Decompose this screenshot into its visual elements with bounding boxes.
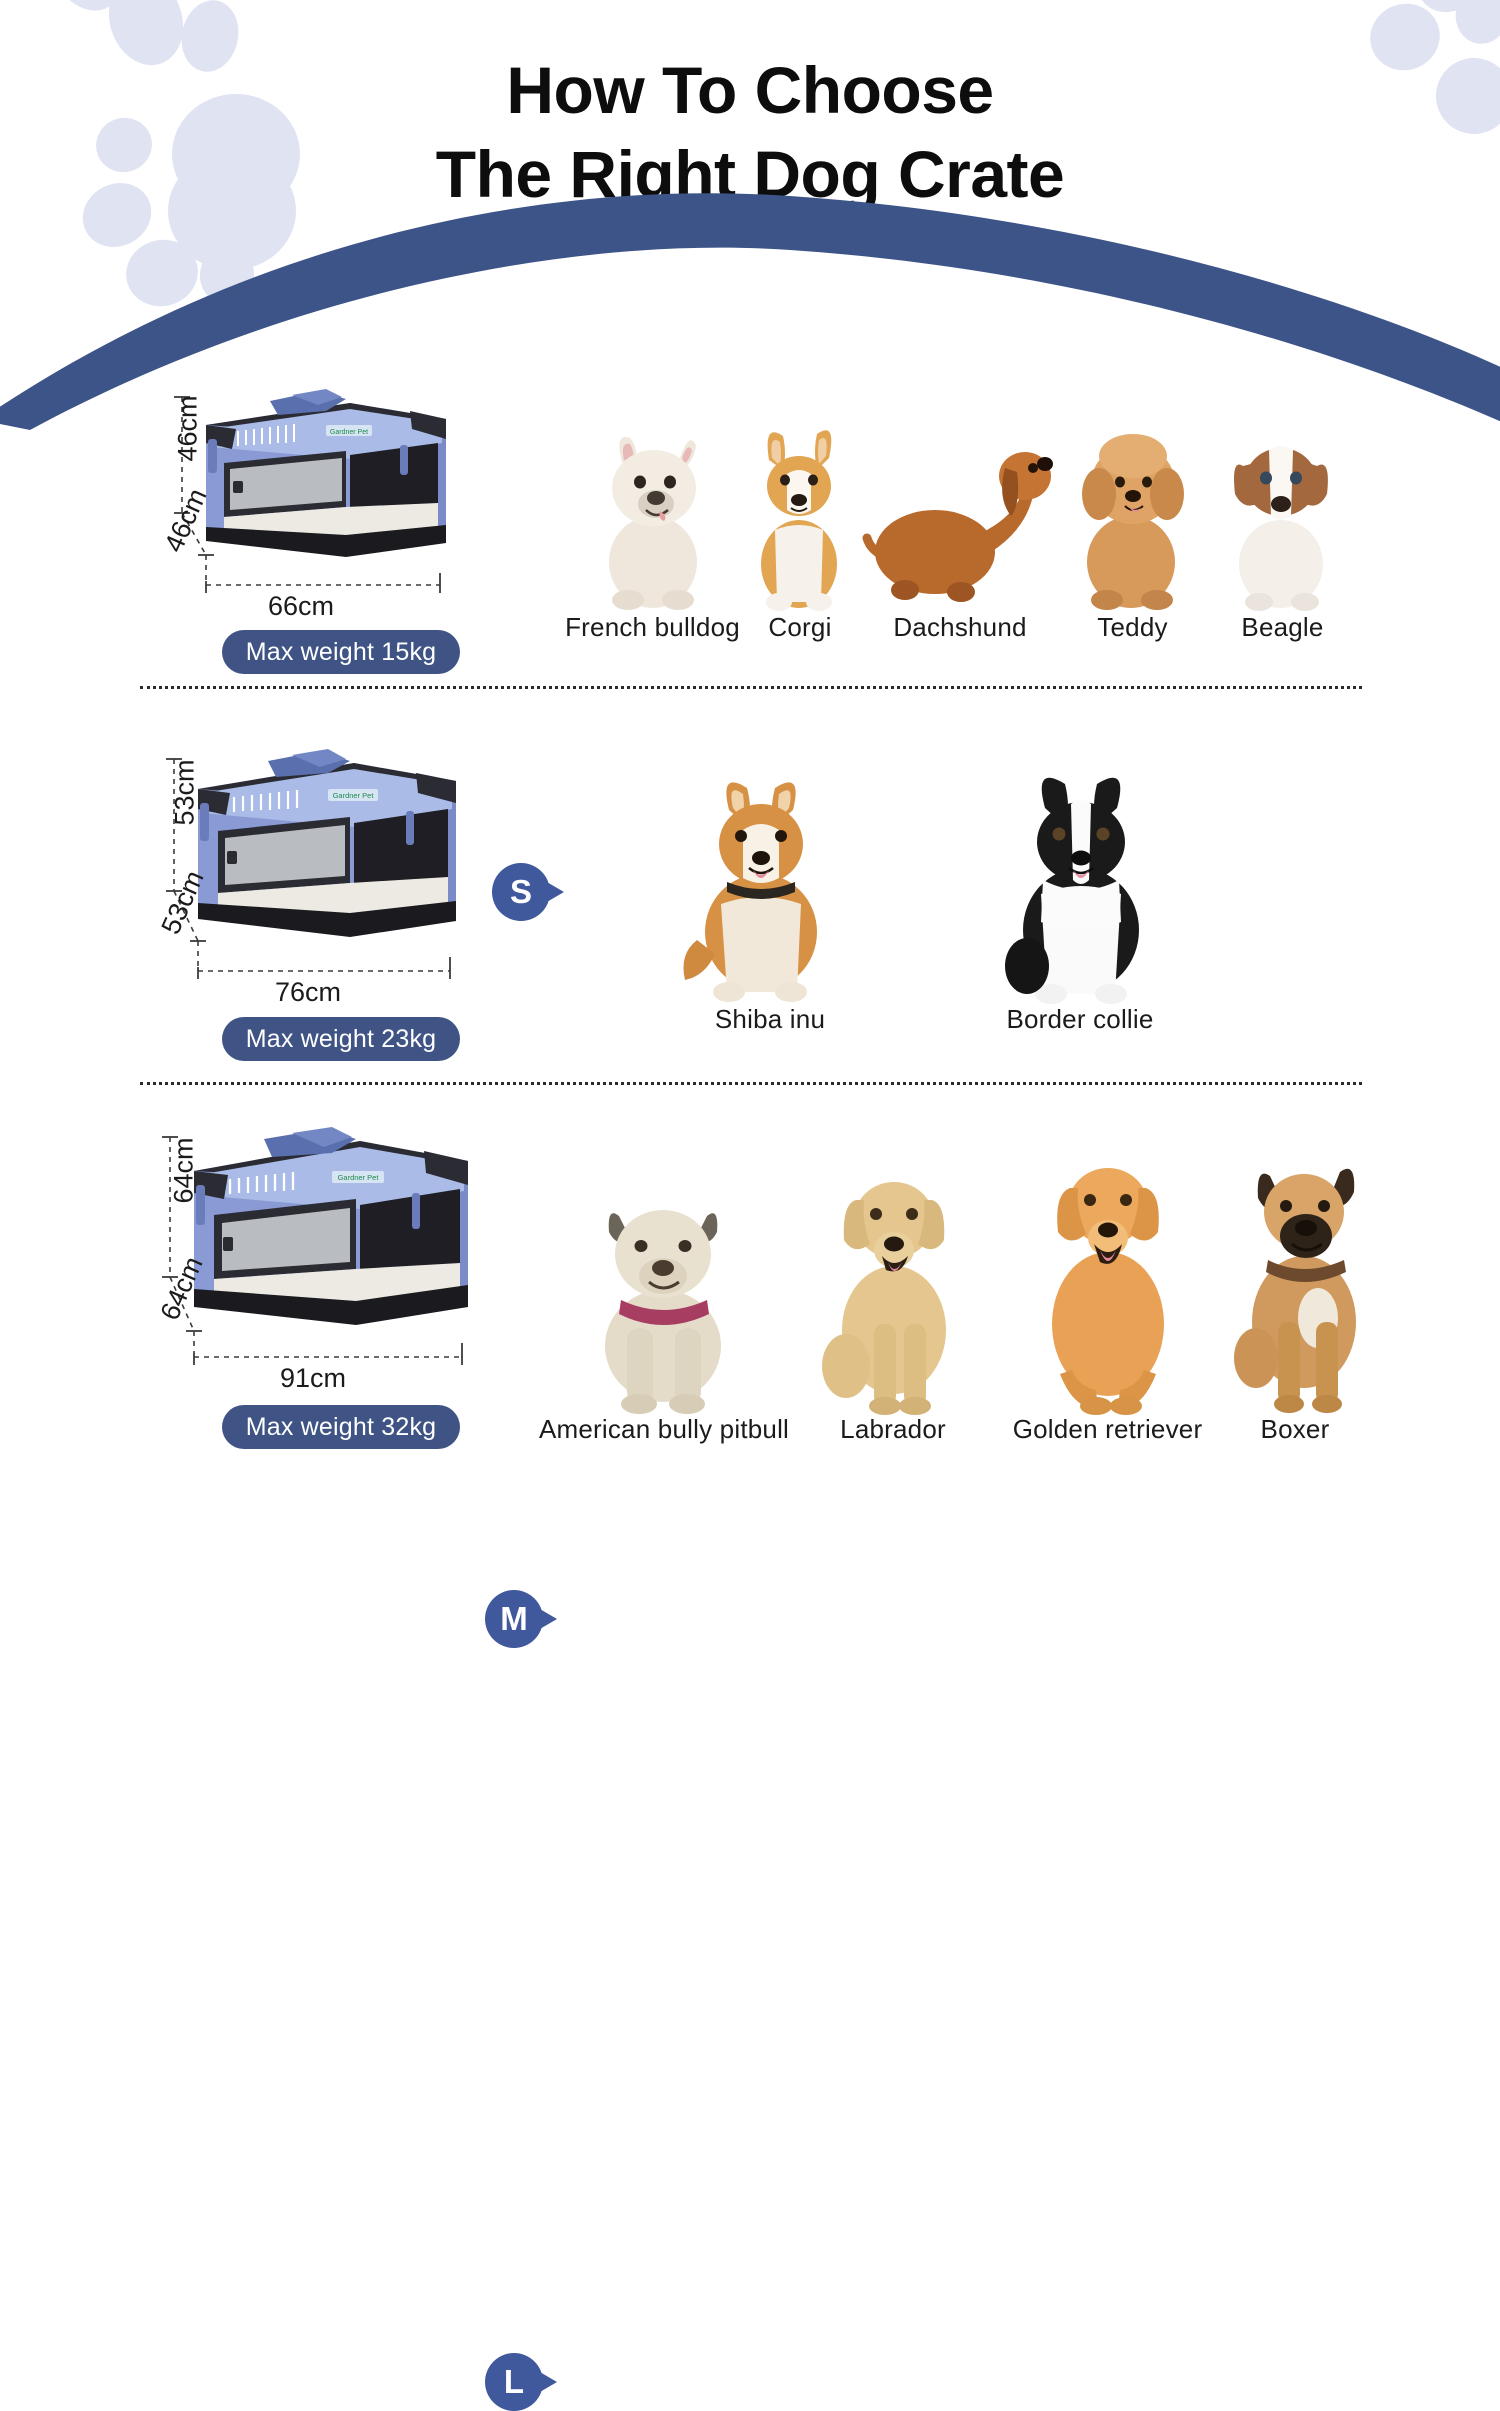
- size-row-s: Gardner Pet: [0, 385, 1500, 685]
- crate-width-label-s: 66cm: [268, 591, 334, 622]
- svg-text:Gardner Pet: Gardner Pet: [338, 1173, 380, 1182]
- breed-name: American bully pitbull: [530, 1414, 798, 1445]
- boxer-image: [1220, 1132, 1390, 1414]
- breed-name: Corgi: [730, 612, 870, 643]
- golden-retriever-image: [1018, 1124, 1198, 1414]
- max-weight-pill-m: Max weight 23kg: [222, 1017, 460, 1061]
- size-badge-l: L: [485, 2353, 543, 2411]
- header: How To Choose The Right Dog Crate: [0, 0, 1500, 390]
- svg-text:Gardner Pet: Gardner Pet: [333, 791, 375, 800]
- breed-list-m: Shiba inu Border collie: [640, 745, 1320, 1075]
- size-row-m: Gardner Pet 53cm 53cm 76cm: [0, 745, 1500, 1075]
- breed-name: Boxer: [1220, 1414, 1370, 1445]
- crate-block-l: Gardner Pet 64cm 64cm 91cm: [150, 1125, 480, 1463]
- dachshund-image: [865, 412, 1055, 612]
- size-badge-letter-m: M: [485, 1590, 543, 1648]
- breed-name: Labrador: [798, 1414, 988, 1445]
- shiba-inu-image: [675, 754, 865, 1004]
- breed-item-shiba-inu: Shiba inu: [640, 754, 900, 1035]
- crate-width-label-m: 76cm: [275, 977, 341, 1008]
- breed-item-labrador: Labrador: [798, 1134, 988, 1445]
- breed-name: Dachshund: [860, 612, 1060, 643]
- crate-block-s: Gardner Pet: [150, 385, 480, 685]
- teddy-image: [1063, 412, 1203, 612]
- breed-name: Beagle: [1205, 612, 1360, 643]
- size-badge-m: M: [485, 1590, 543, 1648]
- crate-width-label-l: 91cm: [280, 1363, 346, 1394]
- breed-item-beagle: Beagle: [1205, 412, 1360, 643]
- page-title-line-1: How To Choose: [506, 53, 993, 127]
- corgi-image: [735, 412, 865, 612]
- size-row-l: Gardner Pet 64cm 64cm 91cm: [0, 1125, 1500, 1463]
- french-bulldog-image: [578, 412, 728, 612]
- section-divider-1: [140, 686, 1362, 689]
- breed-item-dachshund: Dachshund: [860, 412, 1060, 643]
- breed-item-boxer: Boxer: [1220, 1132, 1370, 1445]
- breed-item-corgi: Corgi: [730, 412, 870, 643]
- breed-name: Border collie: [940, 1004, 1220, 1035]
- breed-item-american-bully-pitbull: American bully pitbull: [530, 1168, 798, 1445]
- breed-name: Golden retriever: [985, 1414, 1230, 1445]
- breed-list-s: French bulldog Corgi: [560, 385, 1360, 685]
- size-badge-letter-l: L: [485, 2353, 543, 2411]
- breed-name: Teddy: [1055, 612, 1210, 643]
- breed-item-border-collie: Border collie: [940, 754, 1220, 1035]
- breed-name: Shiba inu: [640, 1004, 900, 1035]
- svg-text:Gardner Pet: Gardner Pet: [330, 429, 368, 436]
- breed-item-teddy: Teddy: [1055, 412, 1210, 643]
- crate-block-m: Gardner Pet 53cm 53cm 76cm: [150, 745, 480, 1075]
- breed-item-golden-retriever: Golden retriever: [985, 1124, 1230, 1445]
- max-weight-pill-l: Max weight 32kg: [222, 1405, 460, 1449]
- breed-name: French bulldog: [560, 612, 745, 643]
- beagle-image: [1213, 412, 1353, 612]
- section-divider-2: [140, 1082, 1362, 1085]
- breed-item-french-bulldog: French bulldog: [560, 412, 745, 643]
- max-weight-pill-s: Max weight 15kg: [222, 630, 460, 674]
- american-bully-pitbull-image: [569, 1168, 759, 1414]
- labrador-image: [808, 1134, 978, 1414]
- border-collie-image: [985, 754, 1175, 1004]
- breed-list-l: American bully pitbull Labrad: [530, 1125, 1370, 1463]
